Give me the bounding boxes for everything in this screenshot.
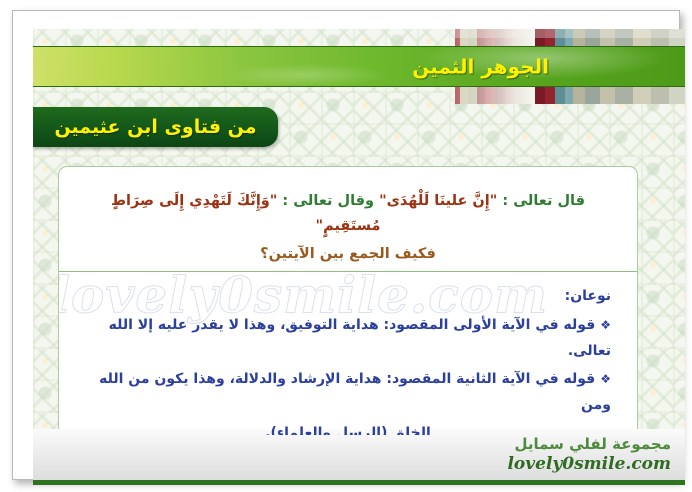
diamond-bullet-icon: ❖ [600,318,611,332]
question-lead: قال تعالى : [497,193,585,209]
answer-block: نوعان: ❖قوله في الآية الأولى المقصود: هد… [59,272,637,436]
footer-site-url: lovely0smile.com [507,454,671,474]
title-banner: الجوهر الثمين [33,46,685,87]
banner-title: الجوهر الثمين [412,54,549,78]
content-card-wrapper: الجوهر الثمين من فتاوى ابن عثيمين lovely… [33,29,685,485]
footer-arabic-label: مجموعة لفلي سمايل [507,435,671,454]
question-line-two: فكيف الجمع بين الآيتين؟ [85,242,611,267]
banner-sheen [33,47,685,86]
question-answer-card: lovely0smile.com قال تعالى : "إِنَّ علين… [58,166,638,436]
answer-list-item: ❖قوله في الآية الثانية المقصود: هداية ال… [85,367,611,419]
answer-tail-text: الخلق (الرسل والعلماء). [85,421,611,436]
subtitle-text: من فتاوى ابن عثيمين [54,116,256,138]
footer-branding: مجموعة لفلي سمايل lovely0smile.com [507,435,671,474]
question-quote-one: "إِنَّ علينَا لَلْهُدَى" [379,193,497,209]
answer-list-item: ❖قوله في الآية الأولى المقصود: هداية الت… [85,313,611,365]
answer-item-text: قوله في الآية الأولى المقصود: هداية التو… [109,317,611,359]
question-middle: وقال تعالى : [277,193,379,209]
outer-frame: الجوهر الثمين من فتاوى ابن عثيمين lovely… [12,10,680,480]
header-band: الجوهر الثمين [33,29,685,104]
footer-bar: مجموعة لفلي سمايل lovely0smile.com [33,429,685,485]
subtitle-tab: من فتاوى ابن عثيمين [33,107,278,147]
question-block: قال تعالى : "إِنَّ علينَا لَلْهُدَى" وقا… [59,167,637,281]
diamond-bullet-icon: ❖ [600,372,611,386]
question-line-one: قال تعالى : "إِنَّ علينَا لَلْهُدَى" وقا… [85,189,611,267]
answer-item-text: قوله في الآية الثانية المقصود: هداية الإ… [99,371,611,413]
page-root: الجوهر الثمين من فتاوى ابن عثيمين lovely… [0,0,692,492]
answer-intro: نوعان: [85,288,611,304]
answer-list: ❖قوله في الآية الأولى المقصود: هداية الت… [85,313,611,419]
